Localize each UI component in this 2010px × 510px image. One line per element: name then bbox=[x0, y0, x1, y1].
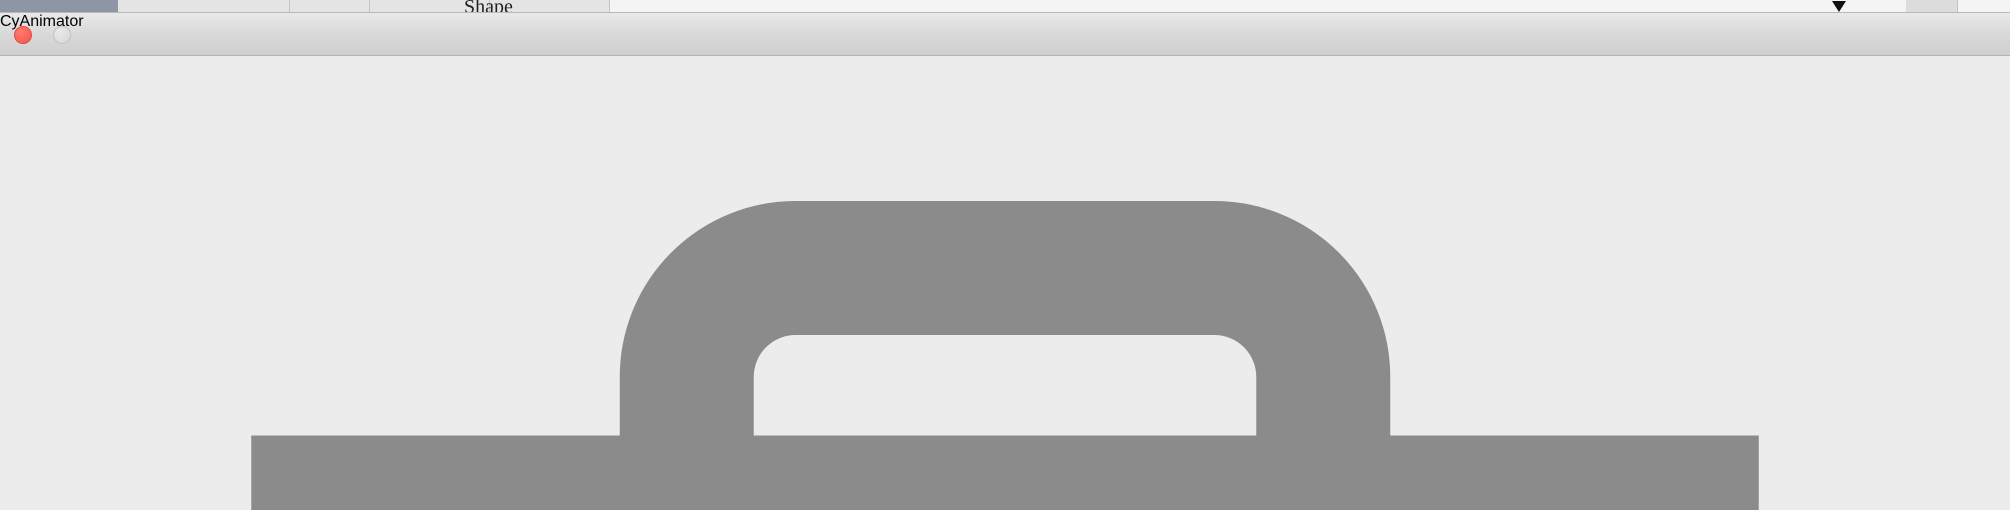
background-tab bbox=[290, 0, 370, 13]
window-title: CyAnimator bbox=[0, 13, 2010, 31]
cyanimator-window: Shape CyAnimator Clear All Frames bbox=[0, 0, 2010, 510]
trash-icon bbox=[0, 0, 2010, 510]
background-window-label: Shape bbox=[464, 0, 513, 13]
background-arrow-icon bbox=[1832, 1, 1846, 12]
delete-frame-button[interactable] bbox=[0, 0, 2010, 510]
background-window-strip: Shape bbox=[0, 0, 2010, 13]
background-tab-active bbox=[0, 0, 118, 13]
background-tab bbox=[118, 0, 290, 13]
titlebar: CyAnimator bbox=[0, 13, 2010, 56]
minimize-button[interactable] bbox=[53, 26, 71, 44]
zoom-button[interactable] bbox=[0, 26, 18, 44]
toolbar: Clear All Frames bbox=[0, 0, 2010, 510]
background-tab bbox=[1906, 0, 1958, 13]
